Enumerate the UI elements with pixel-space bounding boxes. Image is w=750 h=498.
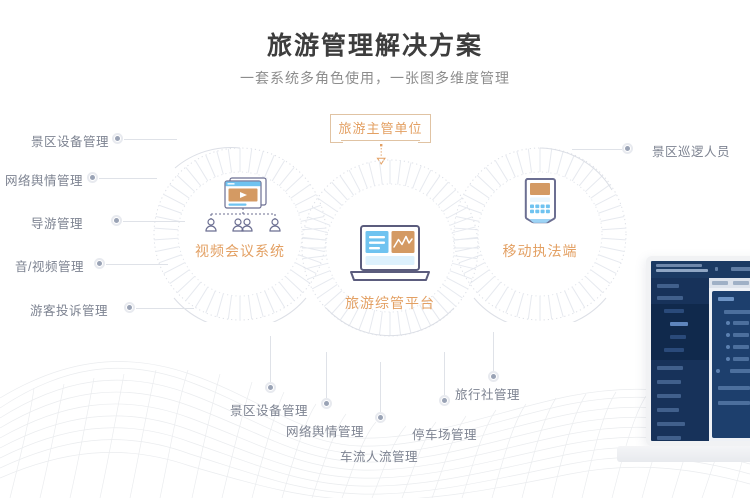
side-label-right-1: 景区巡逻人员 (652, 141, 730, 160)
connector-line-left-2 (99, 178, 157, 179)
dashboard-tree-bullet (726, 345, 730, 349)
authority-badge: 旅游主管单位 (330, 114, 431, 141)
dashboard-logo (656, 264, 708, 275)
mobile-terminal-icon (516, 176, 564, 234)
bottom-label-1: 景区设备管理 (230, 400, 308, 419)
dashboard-topbar (651, 261, 750, 278)
dashboard-topmenu-2[interactable] (731, 267, 750, 271)
connector-line-left-4 (106, 264, 168, 265)
authority-badge-label: 旅游主管单位 (338, 118, 422, 137)
dashboard-tree-item[interactable] (733, 321, 749, 325)
node-label-tourism-platform: 旅游综管平台 (320, 293, 460, 313)
side-label-left-5: 游客投诉管理 (30, 300, 108, 319)
video-conference-icon (197, 176, 283, 234)
side-label-left-4: 音/视频管理 (15, 256, 84, 275)
connector-dot-left-5 (124, 302, 135, 313)
dashboard-tab[interactable] (712, 281, 728, 285)
node-video-conference: 视频会议系统 (170, 176, 310, 261)
dashboard-tree-item[interactable] (730, 369, 750, 373)
dashboard-tree-item[interactable] (724, 310, 750, 314)
dashboard-tree-panel (712, 291, 750, 438)
laptop-base (617, 446, 750, 462)
dashboard-tree-item[interactable] (733, 333, 749, 337)
page-subtitle: 一套系统多角色使用，一张图多维度管理 (0, 68, 750, 88)
node-tourism-platform: 旅游综管平台 (320, 224, 460, 313)
dashboard-tree-bullet (726, 333, 730, 337)
dashboard-menu-item[interactable] (657, 408, 679, 412)
dashboard-tabbar (709, 278, 750, 288)
connector-dot-bottom-4 (439, 395, 450, 406)
connector-line-bottom-4 (444, 352, 445, 398)
dashboard-submenu-item[interactable] (670, 335, 686, 339)
dashboard-tree-title (718, 297, 734, 301)
connector-dot-bottom-3 (375, 412, 386, 423)
connector-dot-bottom-1 (265, 382, 276, 393)
laptop-dashboard-mockup (617, 256, 750, 461)
dashboard-menu-item[interactable] (657, 380, 681, 384)
dashboard-submenu-item[interactable] (664, 348, 684, 352)
dashboard-tree-bullet (726, 357, 730, 361)
connector-line-bottom-3 (380, 362, 381, 414)
node-label-video-conference: 视频会议系统 (170, 241, 310, 261)
badge-top-edge (341, 114, 420, 115)
bottom-label-3: 车流人流管理 (340, 446, 418, 465)
dashboard-main (709, 278, 750, 441)
bottom-label-4: 停车场管理 (412, 424, 477, 443)
connector-dot-left-4 (94, 258, 105, 269)
connector-dot-right-1 (622, 143, 633, 154)
dashboard-menu-item[interactable] (657, 436, 681, 440)
connector-line-left-5 (136, 308, 194, 309)
dashboard-submenu-item[interactable] (664, 309, 684, 313)
dashboard-tree-bullet (726, 321, 730, 325)
connector-line-bottom-2 (326, 352, 327, 400)
dashboard-ui (651, 261, 750, 441)
connector-dot-bottom-5 (488, 371, 499, 382)
side-label-left-1: 景区设备管理 (31, 131, 109, 150)
side-label-left-2: 网络舆情管理 (5, 170, 83, 189)
dashboard-menu-item[interactable] (657, 366, 683, 370)
laptop-screen (646, 256, 750, 446)
badge-bottom-edge (341, 140, 420, 141)
bottom-label-2: 网络舆情管理 (286, 421, 364, 440)
dashboard-sidebar (651, 278, 709, 441)
bottom-label-5: 旅行社管理 (455, 384, 520, 403)
dashboard-tree-item[interactable] (733, 357, 749, 361)
laptop-dashboard-icon (343, 224, 437, 286)
connector-dot-left-3 (111, 215, 122, 226)
dashboard-menu-item[interactable] (657, 284, 679, 288)
dashboard-submenu-item-active[interactable] (670, 322, 688, 326)
connector-dot-bottom-2 (321, 398, 332, 409)
dashboard-menu-item[interactable] (657, 296, 683, 300)
connector-line-bottom-5 (493, 332, 494, 374)
connector-line-bottom-1 (270, 336, 271, 384)
connector-dot-left-2 (87, 172, 98, 183)
dashboard-tab[interactable] (733, 281, 749, 285)
connector-line-left-1 (124, 139, 177, 140)
connector-dot-left-1 (112, 133, 123, 144)
node-label-mobile-enforcement: 移动执法端 (470, 241, 610, 261)
connector-line-left-3 (123, 221, 185, 222)
connector-line-right-1 (572, 149, 622, 150)
dashboard-tree-item[interactable] (733, 345, 749, 349)
node-mobile-enforcement: 移动执法端 (470, 176, 610, 261)
dotted-down-arrow-icon (374, 144, 388, 166)
dashboard-menu-item[interactable] (657, 394, 681, 398)
page-title: 旅游管理解决方案 (0, 26, 750, 62)
infographic-canvas: 旅游管理解决方案 一套系统多角色使用，一张图多维度管理 旅游主管单位 (0, 0, 750, 498)
dashboard-tree-bullet (716, 369, 720, 373)
side-label-left-3: 导游管理 (31, 213, 83, 232)
dashboard-tree-item[interactable] (718, 386, 750, 390)
dashboard-tree-item[interactable] (718, 401, 750, 405)
dashboard-menu-item[interactable] (657, 422, 685, 426)
dashboard-topmenu-1[interactable] (715, 267, 718, 271)
